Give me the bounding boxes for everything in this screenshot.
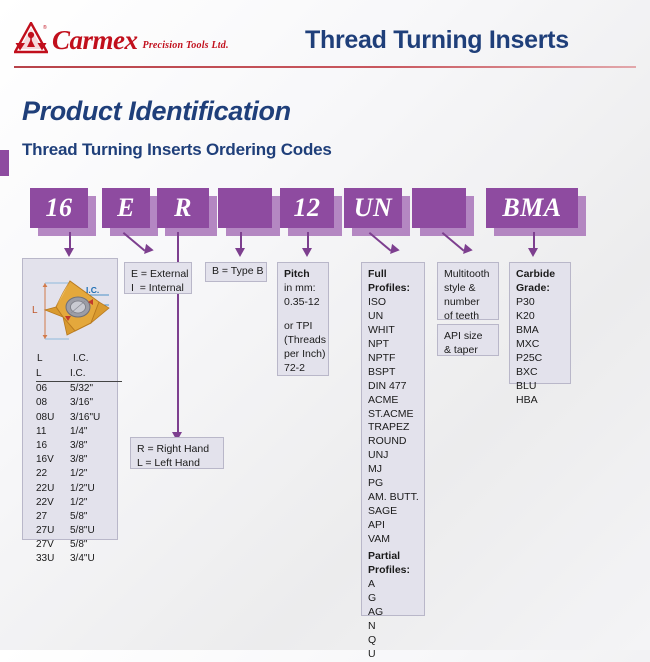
grade-item: P25C bbox=[516, 352, 564, 366]
info-line: number bbox=[444, 296, 492, 310]
code-box-pitch[interactable]: 12 bbox=[280, 188, 334, 228]
profile-item: UNJ bbox=[368, 449, 418, 463]
profile-item: UN bbox=[368, 310, 418, 324]
connector-arrow-icon bbox=[235, 248, 245, 257]
code-box-label: 16 bbox=[46, 193, 73, 223]
size-cell-l: 08 bbox=[36, 396, 70, 410]
profile-item: TRAPEZ bbox=[368, 421, 418, 435]
size-cell-ic: 5/8" bbox=[70, 510, 122, 524]
code-box-direction[interactable]: R bbox=[157, 188, 209, 228]
partial-profile-item: G bbox=[368, 592, 418, 606]
grade-item: BXC bbox=[516, 366, 564, 380]
size-table-col-l: L bbox=[36, 367, 70, 382]
grade-item: P30 bbox=[516, 296, 564, 310]
size-cell-l: 22V bbox=[36, 496, 70, 510]
profile-item: ROUND bbox=[368, 435, 418, 449]
size-table-row: 08U3/16"U bbox=[36, 411, 122, 425]
profile-item: ISO bbox=[368, 296, 418, 310]
info-box-type-b: B = Type B bbox=[205, 262, 267, 282]
size-table-row: 083/16" bbox=[36, 396, 122, 410]
info-line: 72-2 bbox=[284, 362, 322, 376]
info-line: & taper bbox=[444, 344, 492, 358]
connector-arrow-icon bbox=[64, 248, 74, 257]
dim-label-l: L bbox=[32, 305, 38, 316]
info-box-title: Pitch bbox=[284, 268, 310, 280]
size-table-row: 16V3/8" bbox=[36, 453, 122, 467]
grade-item: HBA bbox=[516, 394, 564, 408]
size-cell-l: 16 bbox=[36, 439, 70, 453]
header-divider bbox=[14, 66, 636, 68]
code-box-hand-type[interactable]: E bbox=[102, 188, 150, 228]
info-line: I = Internal bbox=[131, 282, 185, 296]
info-line: L = Left Hand bbox=[137, 457, 217, 471]
code-box-label: E bbox=[117, 193, 135, 223]
size-cell-ic: 3/8" bbox=[70, 439, 122, 453]
size-cell-ic: 1/2" bbox=[70, 467, 122, 481]
partial-profile-item: Q bbox=[368, 634, 418, 648]
info-box-api: API size & taper bbox=[437, 324, 499, 356]
size-cell-ic: 1/4" bbox=[70, 425, 122, 439]
info-line: B = Type B bbox=[212, 265, 263, 279]
size-cell-l: 06 bbox=[36, 382, 70, 396]
info-box-profiles: Full Profiles: ISOUNWHITNPTNPTFBSPTDIN 4… bbox=[361, 262, 425, 616]
info-box-title: Carbide Grade: bbox=[516, 268, 564, 296]
svg-text:®: ® bbox=[43, 24, 47, 31]
size-cell-ic: 3/4"U bbox=[70, 552, 122, 566]
size-cell-ic: 1/2"U bbox=[70, 482, 122, 496]
carmex-triangle-logo-icon: ® bbox=[14, 22, 48, 54]
code-box-label: UN bbox=[354, 193, 393, 223]
profile-item: ACME bbox=[368, 394, 418, 408]
profile-item: BSPT bbox=[368, 366, 418, 380]
code-box-profile[interactable]: UN bbox=[344, 188, 402, 228]
size-table: L I.C. 065/32"083/16"08U3/16"U111/4"163/… bbox=[36, 367, 122, 567]
size-cell-l: 22 bbox=[36, 467, 70, 481]
info-box-title-full: Full Profiles: bbox=[368, 268, 418, 296]
page-title: Thread Turning Inserts bbox=[305, 26, 569, 55]
connector-arrow-icon bbox=[459, 244, 472, 257]
brand-name: Carmex bbox=[52, 27, 138, 54]
size-table-row: 22U1/2"U bbox=[36, 482, 122, 496]
section-title: Product Identification bbox=[22, 96, 291, 127]
size-table-row: 111/4" bbox=[36, 425, 122, 439]
code-box-label: R bbox=[174, 193, 192, 223]
profile-item: NPT bbox=[368, 338, 418, 352]
partial-profiles-list: AGAGNQU bbox=[368, 578, 418, 662]
info-spacer bbox=[284, 310, 322, 320]
profile-item: VAM bbox=[368, 533, 418, 547]
info-line: API size bbox=[444, 330, 492, 344]
grade-item: BLU bbox=[516, 380, 564, 394]
info-box-carbide-grade: Carbide Grade: P30K20BMAMXCP25CBXCBLUHBA bbox=[509, 262, 571, 384]
brand-tagline: Precision Tools Ltd. bbox=[143, 40, 229, 51]
grade-item: BMA bbox=[516, 324, 564, 338]
code-box-label: BMA bbox=[502, 193, 561, 223]
size-cell-l: 27 bbox=[36, 510, 70, 524]
size-cell-l: 22U bbox=[36, 482, 70, 496]
grade-list: P30K20BMAMXCP25CBXCBLUHBA bbox=[516, 296, 564, 408]
code-box-type[interactable] bbox=[218, 188, 272, 228]
info-box-hand: R = Right Hand L = Left Hand bbox=[130, 437, 224, 469]
size-cell-l: 27U bbox=[36, 524, 70, 538]
info-line: style & bbox=[444, 282, 492, 296]
size-cell-ic: 5/32" bbox=[70, 382, 122, 396]
info-line: of teeth bbox=[444, 310, 492, 324]
info-line: Multitooth bbox=[444, 268, 492, 282]
size-cell-ic: 5/8"U bbox=[70, 524, 122, 538]
profile-item: PG bbox=[368, 477, 418, 491]
profile-item: AM. BUTT. bbox=[368, 491, 418, 505]
partial-profile-item: A bbox=[368, 578, 418, 592]
page-header: ® Carmex Precision Tools Ltd. Thread Tur… bbox=[0, 0, 650, 72]
size-table-header: L I.C. bbox=[36, 367, 122, 382]
size-cell-ic: 3/16"U bbox=[70, 411, 122, 425]
profile-item: ST.ACME bbox=[368, 408, 418, 422]
info-line: (Threads bbox=[284, 334, 322, 348]
dim-label-ic: I.C. bbox=[86, 285, 99, 295]
connector-arrow-icon bbox=[302, 248, 312, 257]
partial-profile-item: AG bbox=[368, 606, 418, 620]
size-table-row: 33U3/4"U bbox=[36, 552, 122, 566]
figure-caption-ic: I.C. bbox=[73, 353, 89, 364]
info-line: or TPI bbox=[284, 320, 322, 334]
grade-item: K20 bbox=[516, 310, 564, 324]
info-line: E = External bbox=[131, 268, 185, 282]
info-line: R = Right Hand bbox=[137, 443, 217, 457]
size-table-row: 163/8" bbox=[36, 439, 122, 453]
size-cell-l: 27V bbox=[36, 538, 70, 552]
size-cell-l: 11 bbox=[36, 425, 70, 439]
figure-caption-l: L bbox=[37, 353, 43, 364]
size-table-row: 27V5/8" bbox=[36, 538, 122, 552]
brand-logo: ® Carmex Precision Tools Ltd. bbox=[14, 22, 229, 54]
profile-item: SAGE bbox=[368, 505, 418, 519]
size-table-col-ic: I.C. bbox=[70, 367, 122, 382]
code-box-label: 12 bbox=[294, 193, 321, 223]
connector-arrow-icon bbox=[528, 248, 538, 257]
info-line: per Inch) bbox=[284, 348, 322, 362]
size-cell-l: 16V bbox=[36, 453, 70, 467]
size-cell-l: 33U bbox=[36, 552, 70, 566]
connector-arrow-icon bbox=[386, 244, 399, 257]
size-table-row: 22V1/2" bbox=[36, 496, 122, 510]
size-cell-ic: 1/2" bbox=[70, 496, 122, 510]
size-cell-ic: 3/8" bbox=[70, 453, 122, 467]
page-root: ® Carmex Precision Tools Ltd. Thread Tur… bbox=[0, 0, 650, 650]
size-table-row: 221/2" bbox=[36, 467, 122, 481]
info-box-pitch: Pitch in mm: 0.35-12 or TPI (Threads per… bbox=[277, 262, 329, 376]
profile-item: API bbox=[368, 519, 418, 533]
size-table-row: 275/8" bbox=[36, 510, 122, 524]
partial-profile-item: N bbox=[368, 620, 418, 634]
code-box-grade[interactable]: BMA bbox=[486, 188, 578, 228]
full-profiles-list: ISOUNWHITNPTNPTFBSPTDIN 477ACMEST.ACMETR… bbox=[368, 296, 418, 547]
insert-figure-panel: I.C. L L I.C. L I.C. 065/32"083/16"08U3/… bbox=[22, 258, 118, 540]
info-box-title-partial: Partial Profiles: bbox=[368, 550, 418, 578]
size-table-row: 27U5/8"U bbox=[36, 524, 122, 538]
connector-arrow-icon bbox=[140, 244, 153, 257]
info-line: 0.35-12 bbox=[284, 296, 322, 310]
size-cell-ic: 3/16" bbox=[70, 396, 122, 410]
size-cell-l: 08U bbox=[36, 411, 70, 425]
info-line: in mm: bbox=[284, 282, 322, 296]
profile-item: MJ bbox=[368, 463, 418, 477]
info-box-multitooth: Multitooth style & number of teeth bbox=[437, 262, 499, 320]
profile-item: DIN 477 bbox=[368, 380, 418, 394]
grade-item: MXC bbox=[516, 338, 564, 352]
size-cell-ic: 5/8" bbox=[70, 538, 122, 552]
size-table-row: 065/32" bbox=[36, 382, 122, 396]
code-box-size[interactable]: 16 bbox=[30, 188, 88, 228]
subsection-title: Thread Turning Inserts Ordering Codes bbox=[22, 140, 332, 160]
profile-item: WHIT bbox=[368, 324, 418, 338]
info-box-external-internal: E = External I = Internal bbox=[124, 262, 192, 294]
code-box-teeth[interactable] bbox=[412, 188, 466, 228]
edge-accent-bar bbox=[0, 150, 9, 176]
profile-item: NPTF bbox=[368, 352, 418, 366]
